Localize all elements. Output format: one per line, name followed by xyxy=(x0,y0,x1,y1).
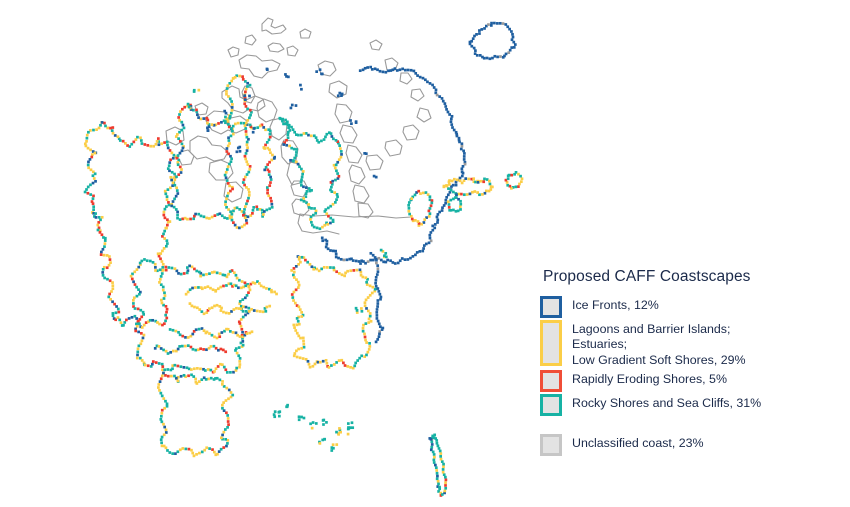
legend-label-rocky-shores-sea-cliffs: Rocky Shores and Sea Cliffs, 31% xyxy=(572,394,761,411)
figure-canvas: Proposed CAFF Coastscapes Ice Fronts, 12… xyxy=(0,0,850,507)
map-legend: Proposed CAFF Coastscapes Ice Fronts, 12… xyxy=(540,268,840,458)
legend-label-lagoons-barrier-islands: Lagoons and Barrier Islands; Estuaries; … xyxy=(572,320,746,368)
legend-swatch-rocky-shores-sea-cliffs xyxy=(540,394,562,416)
unclassified-coastline xyxy=(166,18,431,234)
map-svg xyxy=(0,0,530,507)
legend-item-rapidly-eroding-shores[interactable]: Rapidly Eroding Shores, 5% xyxy=(540,370,840,392)
legend-item-rocky-shores-sea-cliffs[interactable]: Rocky Shores and Sea Cliffs, 31% xyxy=(540,394,840,416)
classified-coastline-dots xyxy=(84,22,524,497)
legend-swatch-rapidly-eroding-shores xyxy=(540,370,562,392)
legend-swatch-ice-fronts xyxy=(540,296,562,318)
legend-item-ice-fronts[interactable]: Ice Fronts, 12% xyxy=(540,296,840,318)
legend-label-unclassified-coast: Unclassified coast, 23% xyxy=(572,434,704,451)
legend-title: Proposed CAFF Coastscapes xyxy=(543,268,840,286)
legend-items: Ice Fronts, 12%Lagoons and Barrier Islan… xyxy=(540,296,840,456)
legend-item-unclassified-coast[interactable]: Unclassified coast, 23% xyxy=(540,434,840,456)
legend-item-lagoons-barrier-islands[interactable]: Lagoons and Barrier Islands; Estuaries; … xyxy=(540,320,840,368)
legend-label-ice-fronts: Ice Fronts, 12% xyxy=(572,296,659,313)
legend-swatch-unclassified-coast xyxy=(540,434,562,456)
legend-swatch-lagoons-barrier-islands xyxy=(540,320,562,366)
coastscape-map xyxy=(0,0,530,507)
legend-label-rapidly-eroding-shores: Rapidly Eroding Shores, 5% xyxy=(572,370,727,387)
legend-separator xyxy=(540,418,840,434)
